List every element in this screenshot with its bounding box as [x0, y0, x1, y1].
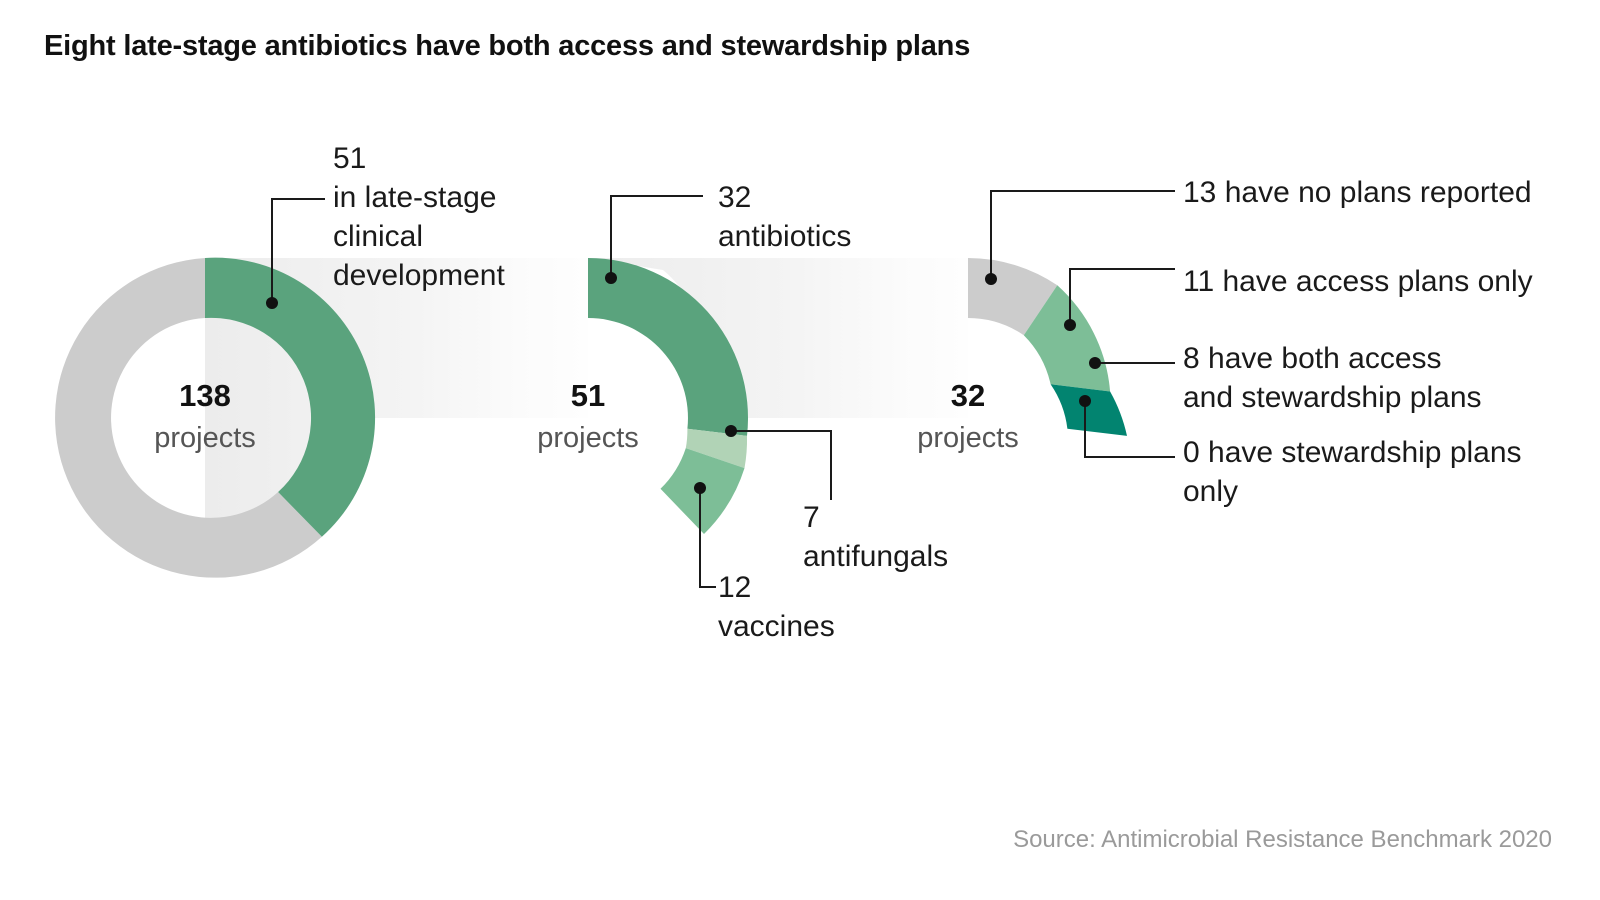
label-stewardship-only: 0 have stewardship plans only [1183, 436, 1530, 508]
donut-antibiotics-center-sub: projects [917, 422, 1019, 454]
leader-line-access-only [1070, 269, 1175, 325]
donut-antibiotics-center-number: 32 [951, 378, 985, 413]
label-no-plans: 13 have no plans reported [1183, 176, 1532, 209]
leader-dot-antifungals [725, 425, 737, 437]
donut-late-stage-center-number: 51 [571, 378, 605, 413]
leader-dot-late-stage [266, 297, 278, 309]
label-antifungals: 7 antifungals [803, 501, 948, 573]
leader-access-only: 11 have access plans only [1064, 265, 1533, 331]
donut-projects-center-sub: projects [154, 422, 256, 454]
donut-antibiotics-slice-both-plans [1051, 384, 1127, 436]
leader-dot-antibiotics [605, 272, 617, 284]
leader-dot-access-only [1064, 319, 1076, 331]
donut-projects-center-number: 138 [179, 378, 231, 413]
leader-dot-no-plans [985, 273, 997, 285]
leader-antifungals: 7 antifungals [725, 425, 948, 573]
label-vaccines: 12 vaccines [718, 571, 835, 643]
label-both-plans: 8 have both access and stewardship plans [1183, 342, 1482, 414]
infographic-canvas: Eight late-stage antibiotics have both a… [0, 0, 1600, 900]
leader-dot-stewardship-only [1079, 395, 1091, 407]
funnel-donut-figure: 138 projects 51 in late-stage clinical d… [0, 0, 1600, 900]
label-access-only: 11 have access plans only [1183, 265, 1533, 298]
leader-line-no-plans [991, 191, 1175, 279]
donut-late-stage-center-sub: projects [537, 422, 639, 454]
label-antibiotics: 32 antibiotics [718, 181, 851, 253]
label-late-stage: 51 in late-stage clinical development [333, 142, 505, 292]
leader-dot-both-plans [1089, 357, 1101, 369]
leader-both-plans: 8 have both access and stewardship plans [1089, 342, 1482, 414]
source-note: Source: Antimicrobial Resistance Benchma… [1013, 826, 1552, 854]
leader-dot-vaccines [694, 482, 706, 494]
